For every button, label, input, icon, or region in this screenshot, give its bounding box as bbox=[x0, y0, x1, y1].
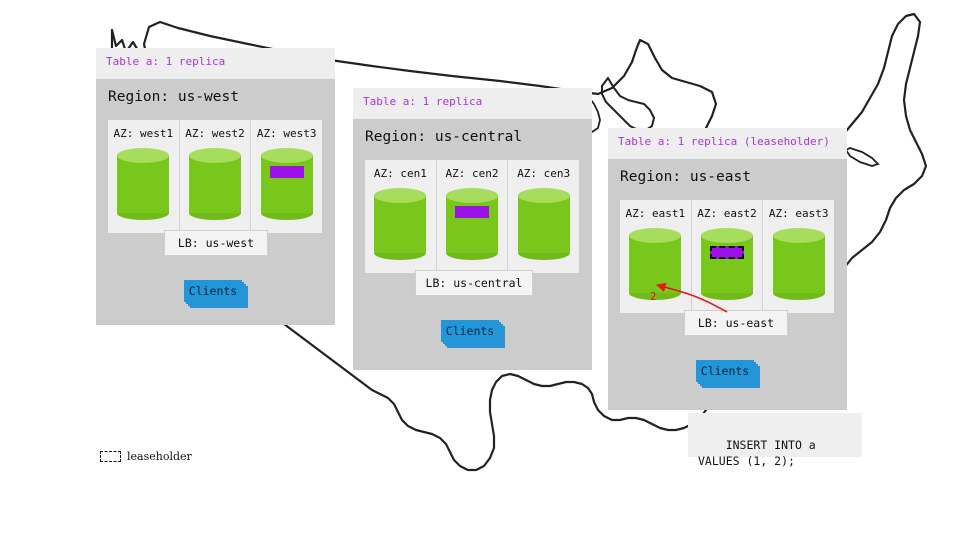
load-balancer-us-east[interactable]: LB: us-east bbox=[684, 310, 788, 336]
replica-block-east2-leaseholder[interactable] bbox=[710, 246, 744, 259]
node-cylinder-cen1[interactable] bbox=[374, 188, 426, 262]
clients-label-us-west: Clients bbox=[189, 284, 237, 298]
az-label-east3: AZ: east3 bbox=[769, 207, 829, 220]
az-row-us-central: AZ: cen1 AZ: cen2 AZ: cen3 bbox=[365, 160, 579, 273]
az-cell-east2[interactable]: AZ: east2 bbox=[692, 200, 764, 313]
az-label-east2: AZ: east2 bbox=[697, 207, 757, 220]
az-cell-west2[interactable]: AZ: west2 bbox=[180, 120, 252, 233]
replica-title-us-central: Table a: 1 replica bbox=[363, 95, 582, 108]
clients-label-us-east: Clients bbox=[701, 364, 749, 378]
load-balancer-us-central[interactable]: LB: us-central bbox=[415, 270, 533, 296]
sql-statement-text: INSERT INTO a VALUES (1, 2); bbox=[698, 438, 816, 469]
node-cylinder-west3[interactable] bbox=[261, 148, 313, 222]
az-label-west1: AZ: west1 bbox=[114, 127, 174, 140]
az-cell-west1[interactable]: AZ: west1 bbox=[108, 120, 180, 233]
az-row-us-west: AZ: west1 AZ: west2 AZ: west3 bbox=[108, 120, 322, 233]
clients-stack-us-east[interactable]: Clients bbox=[696, 360, 762, 390]
load-balancer-label-us-west: LB: us-west bbox=[178, 236, 254, 250]
az-label-cen3: AZ: cen3 bbox=[517, 167, 570, 180]
az-label-west3: AZ: west3 bbox=[257, 127, 317, 140]
az-cell-cen1[interactable]: AZ: cen1 bbox=[365, 160, 437, 273]
clients-button-us-west[interactable]: Clients bbox=[184, 280, 242, 302]
legend-label-leaseholder: leaseholder bbox=[127, 450, 192, 463]
clients-stack-us-central[interactable]: Clients bbox=[441, 320, 507, 350]
node-cylinder-east3[interactable] bbox=[773, 228, 825, 302]
replica-block-west3[interactable] bbox=[270, 166, 304, 178]
replica-title-us-west: Table a: 1 replica bbox=[106, 55, 325, 68]
node-cylinder-west2[interactable] bbox=[189, 148, 241, 222]
az-cell-cen2[interactable]: AZ: cen2 bbox=[437, 160, 509, 273]
replica-block-cen2[interactable] bbox=[455, 206, 489, 218]
load-balancer-label-us-central: LB: us-central bbox=[426, 276, 523, 290]
region-panel-us-west: Table a: 1 replica Region: us-west AZ: w… bbox=[96, 48, 335, 325]
panel-title-bar-us-central: Table a: 1 replica bbox=[353, 88, 592, 119]
node-cylinder-east2[interactable] bbox=[701, 228, 753, 302]
replica-title-us-east: Table a: 1 replica (leaseholder) bbox=[618, 135, 837, 148]
az-label-cen1: AZ: cen1 bbox=[374, 167, 427, 180]
panel-title-bar-us-west: Table a: 1 replica bbox=[96, 48, 335, 79]
node-cylinder-west1[interactable] bbox=[117, 148, 169, 222]
load-balancer-us-west[interactable]: LB: us-west bbox=[164, 230, 268, 256]
legend-leaseholder: leaseholder bbox=[100, 450, 192, 463]
region-label-us-west: Region: us-west bbox=[96, 79, 335, 105]
az-cell-cen3[interactable]: AZ: cen3 bbox=[508, 160, 579, 273]
az-label-west2: AZ: west2 bbox=[185, 127, 245, 140]
clients-button-us-central[interactable]: Clients bbox=[441, 320, 499, 342]
clients-stack-us-west[interactable]: Clients bbox=[184, 280, 250, 310]
az-label-cen2: AZ: cen2 bbox=[446, 167, 499, 180]
az-cell-east3[interactable]: AZ: east3 bbox=[763, 200, 834, 313]
az-cell-west3[interactable]: AZ: west3 bbox=[251, 120, 322, 233]
clients-button-us-east[interactable]: Clients bbox=[696, 360, 754, 382]
region-panel-us-east: Table a: 1 replica (leaseholder) Region:… bbox=[608, 128, 847, 410]
sql-statement-box: INSERT INTO a VALUES (1, 2); bbox=[688, 413, 862, 457]
dashed-rect-swatch bbox=[100, 451, 121, 462]
clients-label-us-central: Clients bbox=[446, 324, 494, 338]
load-balancer-label-us-east: LB: us-east bbox=[698, 316, 774, 330]
panel-title-bar-us-east: Table a: 1 replica (leaseholder) bbox=[608, 128, 847, 159]
region-panel-us-central: Table a: 1 replica Region: us-central AZ… bbox=[353, 88, 592, 370]
diagram-canvas: Table a: 1 replica Region: us-west AZ: w… bbox=[0, 0, 960, 540]
region-label-us-east: Region: us-east bbox=[608, 159, 847, 185]
az-label-east1: AZ: east1 bbox=[626, 207, 686, 220]
node-cylinder-cen2[interactable] bbox=[446, 188, 498, 262]
node-cylinder-cen3[interactable] bbox=[518, 188, 570, 262]
region-label-us-central: Region: us-central bbox=[353, 119, 592, 145]
arrow-step-label: 2 bbox=[650, 291, 656, 303]
